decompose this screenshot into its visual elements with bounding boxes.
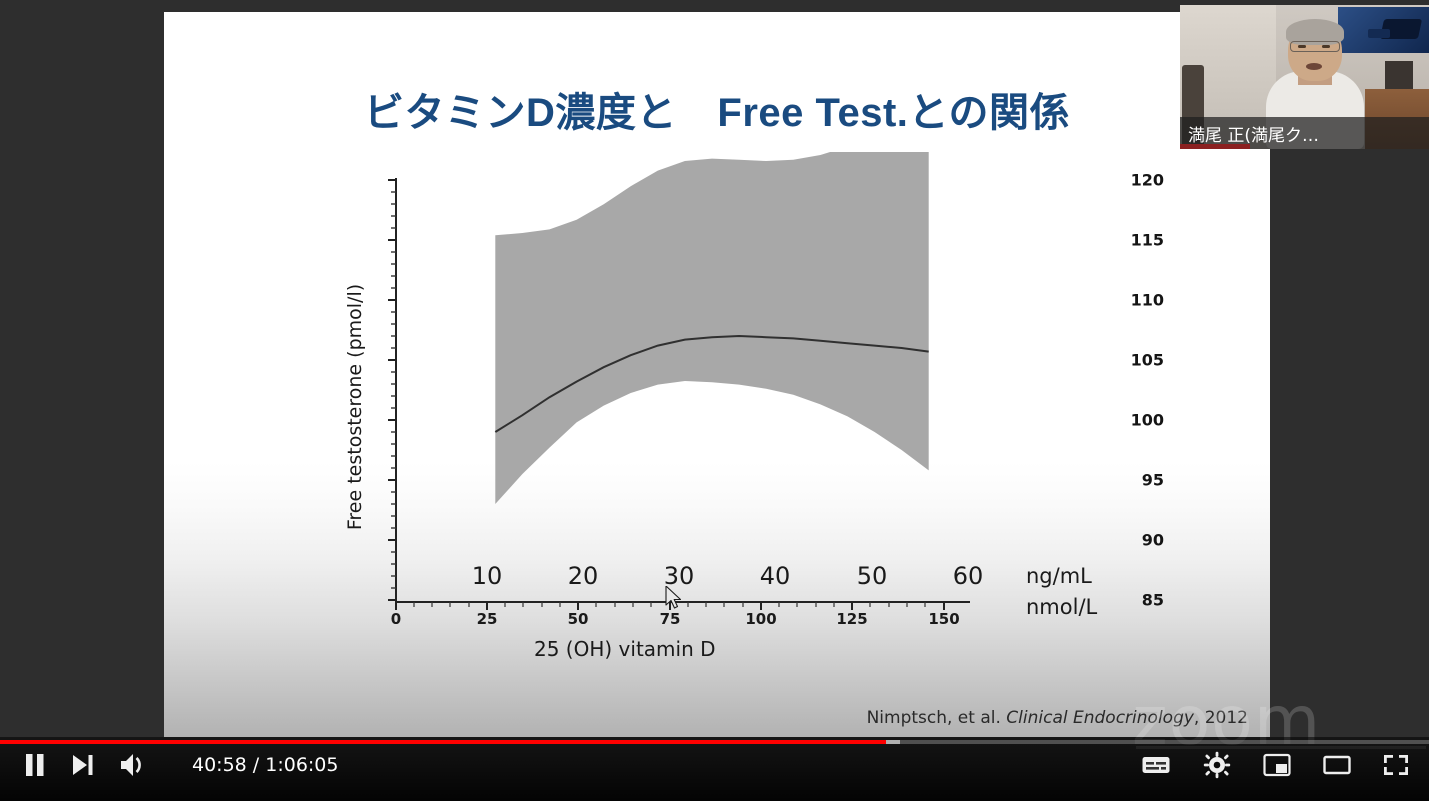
x-tick-nmoll-25: 25 [457,610,517,628]
participant-accent-bar [1180,144,1250,149]
volume-button[interactable] [118,751,148,779]
x-tick-nmoll-100: 100 [731,610,791,628]
citation: Nimptsch, et al. Clinical Endocrinology,… [867,708,1248,728]
y-major-ticks [388,180,396,600]
x-tick-ngml-50: 50 [842,562,902,590]
wall-artwork [1338,7,1429,53]
progress-bar[interactable] [0,737,1429,747]
citation-author: Nimptsch, et al. [867,708,1001,728]
person-mouth [1306,63,1322,70]
vitamin-d-testosterone-chart: Free testosterone (pmol/l) 120 115 110 1… [334,152,1164,672]
settings-button[interactable] [1203,751,1231,779]
x-unit-nmoll: nmol/L [1026,595,1097,619]
mouse-cursor [665,586,683,610]
time-display: 40:58 / 1:06:05 [192,754,338,776]
x-tick-nmoll-50: 50 [548,610,608,628]
x-tick-nmoll-75: 75 [640,610,700,628]
subtitles-button[interactable] [1141,753,1171,777]
video-player-page: ビタミンD濃度と Free Test.との関係 Free testosteron… [0,0,1429,801]
fullscreen-button[interactable] [1383,753,1409,777]
video-player-controls: 40:58 / 1:06:05 [0,737,1429,801]
presentation-slide: ビタミンD濃度と Free Test.との関係 Free testosteron… [164,12,1270,737]
x-tick-ngml-20: 20 [553,562,613,590]
artwork-shape-2 [1368,29,1390,38]
miniplayer-button[interactable] [1263,753,1291,777]
person-eye-right [1322,45,1330,48]
x-axis-title: 25 (OH) vitamin D [534,637,716,661]
player-left-controls: 40:58 / 1:06:05 [22,751,338,779]
plot-area [334,152,1164,672]
participant-name: 満尾 正(満尾ク… [1188,121,1319,146]
confidence-band [495,152,928,504]
x-tick-ngml-60: 60 [938,562,998,590]
x-tick-nmoll-0: 0 [366,610,426,628]
citation-year: , 2012 [1194,708,1248,728]
x-tick-ngml-40: 40 [745,562,805,590]
x-unit-ngml: ng/mL [1026,564,1092,588]
x-tick-nmoll-150: 150 [914,610,974,628]
pause-button[interactable] [22,751,48,779]
player-right-controls [1141,751,1409,779]
x-tick-ngml-10: 10 [457,562,517,590]
page-title: ビタミンD濃度と Free Test.との関係 [164,80,1270,138]
theater-mode-button[interactable] [1323,753,1351,777]
person-eye-left [1298,45,1306,48]
books [1385,61,1413,89]
progress-played [0,740,886,744]
next-video-button[interactable] [70,751,96,779]
citation-journal: Clinical Endocrinology [1006,708,1194,728]
participant-video-thumbnail[interactable]: 満尾 正(満尾ク… [1180,5,1429,149]
x-tick-nmoll-125: 125 [822,610,882,628]
